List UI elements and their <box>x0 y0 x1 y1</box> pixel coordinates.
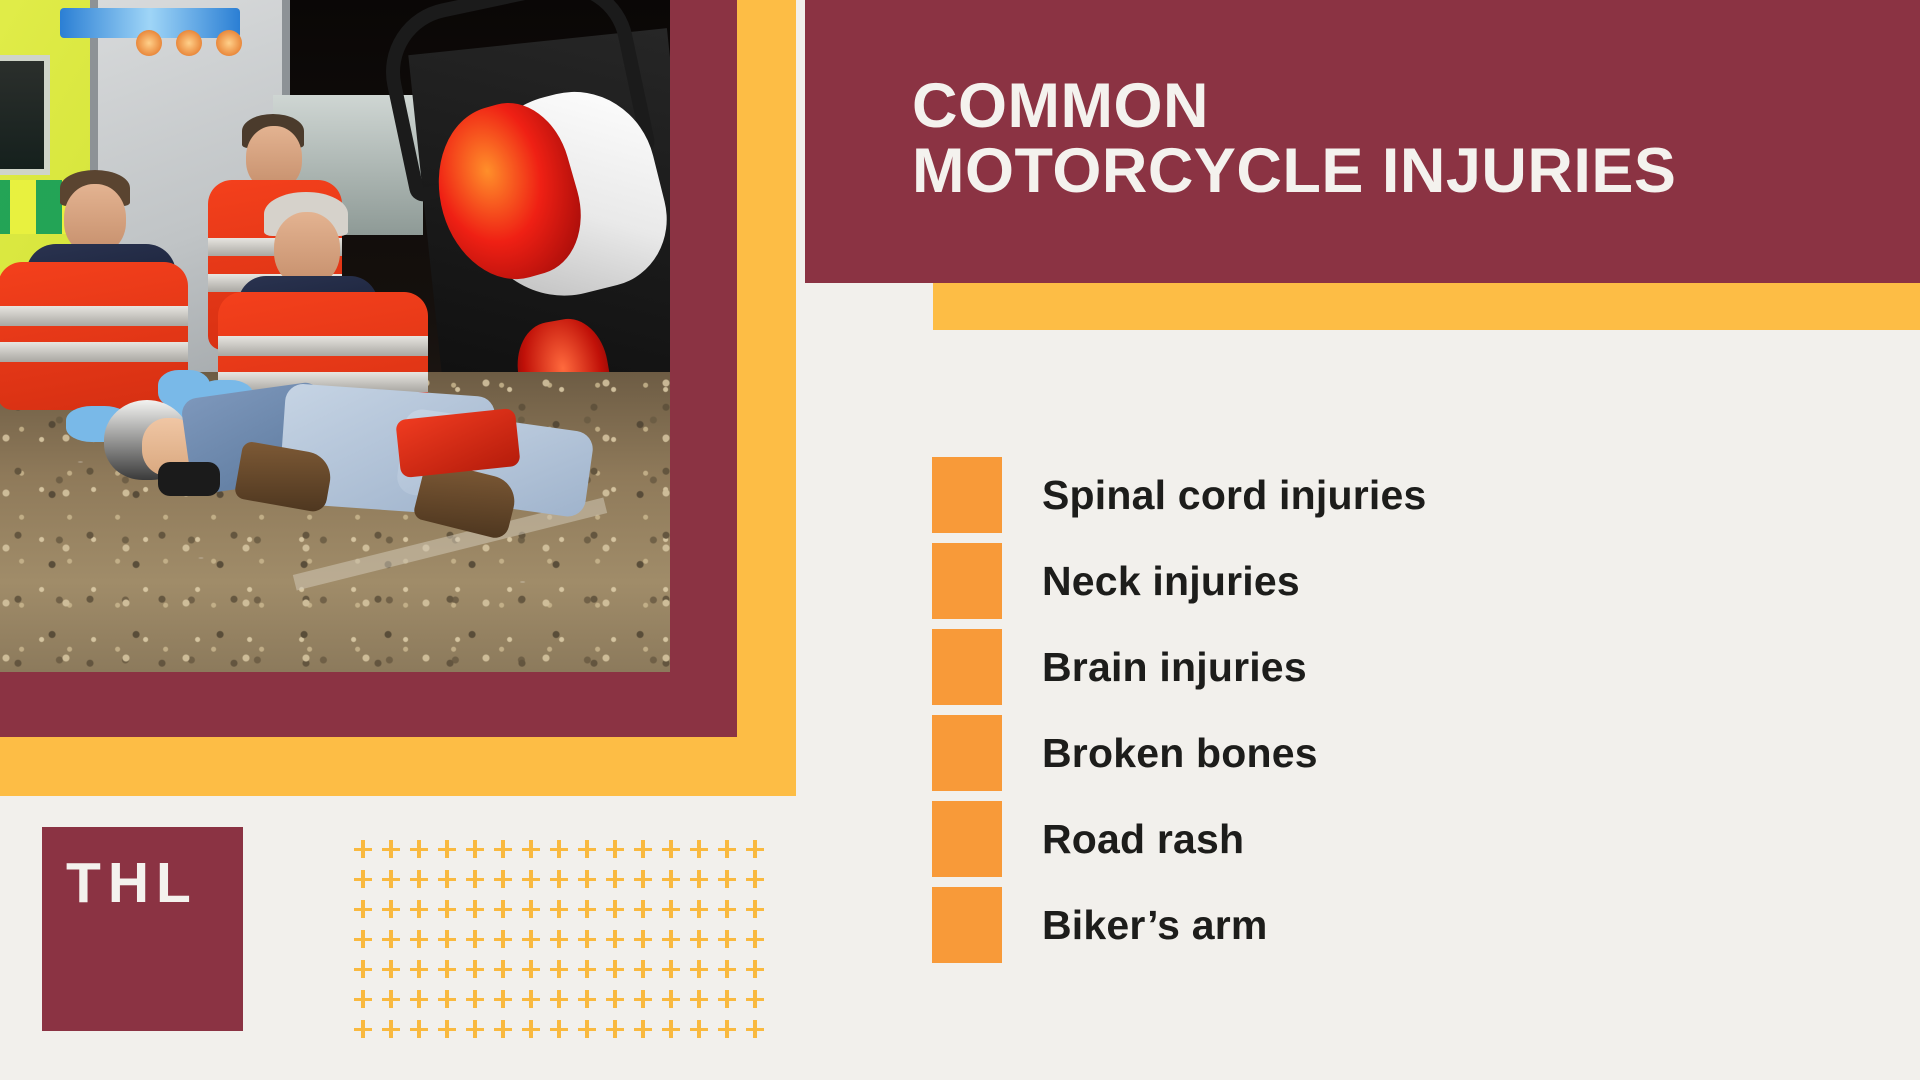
plus-icon <box>604 956 632 986</box>
plus-icon <box>604 986 632 1016</box>
injury-label: Brain injuries <box>1042 644 1307 691</box>
logo-text: THL <box>42 827 243 912</box>
injury-label: Neck injuries <box>1042 558 1300 605</box>
plus-icon <box>744 866 772 896</box>
square-bullet-icon <box>932 801 1002 877</box>
plus-icon <box>688 986 716 1016</box>
plus-icon <box>632 926 660 956</box>
accident-scene-photo <box>0 0 670 672</box>
plus-icon <box>520 926 548 956</box>
plus-icon <box>688 956 716 986</box>
plus-icon <box>548 986 576 1016</box>
plus-pattern-decoration <box>352 836 772 1041</box>
plus-icon <box>716 956 744 986</box>
plus-icon <box>660 1016 688 1046</box>
plus-icon <box>660 986 688 1016</box>
plus-icon <box>576 986 604 1016</box>
plus-icon <box>688 926 716 956</box>
plus-icon <box>716 1016 744 1046</box>
plus-icon <box>520 1016 548 1046</box>
list-item: Road rash <box>932 796 1832 882</box>
plus-icon <box>408 956 436 986</box>
plus-icon <box>436 956 464 986</box>
plus-icon <box>352 866 380 896</box>
plus-icon <box>352 1016 380 1046</box>
plus-icon <box>688 1016 716 1046</box>
square-bullet-icon <box>932 715 1002 791</box>
plus-icon <box>408 896 436 926</box>
photo-medic-head <box>274 212 340 286</box>
list-item: Broken bones <box>932 710 1832 796</box>
plus-icon <box>548 926 576 956</box>
injury-label: Biker’s arm <box>1042 902 1268 949</box>
plus-icon <box>464 926 492 956</box>
plus-icon <box>576 926 604 956</box>
plus-icon <box>744 986 772 1016</box>
square-bullet-icon <box>932 629 1002 705</box>
plus-icon <box>576 866 604 896</box>
plus-icon <box>632 866 660 896</box>
injury-label: Spinal cord injuries <box>1042 472 1426 519</box>
plus-icon <box>716 926 744 956</box>
plus-icon <box>408 836 436 866</box>
plus-icon <box>464 986 492 1016</box>
plus-icon <box>352 956 380 986</box>
plus-icon <box>660 896 688 926</box>
photo-ambulance-window <box>0 55 50 175</box>
photo-frame <box>0 0 796 796</box>
photo-ambulance-lamp <box>176 30 202 56</box>
plus-icon <box>352 986 380 1016</box>
plus-icon <box>660 926 688 956</box>
photo-medic-reflective-band <box>0 342 188 362</box>
list-item: Spinal cord injuries <box>932 452 1832 538</box>
plus-icon <box>632 986 660 1016</box>
injury-label: Broken bones <box>1042 730 1318 777</box>
plus-icon <box>352 896 380 926</box>
plus-icon <box>688 866 716 896</box>
plus-icon <box>688 896 716 926</box>
injury-list: Spinal cord injuries Neck injuries Brain… <box>932 452 1832 968</box>
plus-icon <box>520 866 548 896</box>
plus-icon <box>408 926 436 956</box>
plus-icon <box>716 896 744 926</box>
plus-icon <box>548 1016 576 1046</box>
plus-icon <box>408 1016 436 1046</box>
plus-icon <box>548 836 576 866</box>
square-bullet-icon <box>932 543 1002 619</box>
plus-icon <box>436 926 464 956</box>
square-bullet-icon <box>932 887 1002 963</box>
plus-icon <box>548 896 576 926</box>
list-item: Brain injuries <box>932 624 1832 710</box>
plus-icon <box>744 956 772 986</box>
plus-icon <box>436 1016 464 1046</box>
plus-icon <box>744 926 772 956</box>
plus-icon <box>436 896 464 926</box>
plus-icon <box>464 896 492 926</box>
plus-icon <box>436 836 464 866</box>
photo-victim-glove <box>158 462 220 496</box>
plus-icon <box>436 866 464 896</box>
plus-icon <box>716 866 744 896</box>
plus-icon <box>380 896 408 926</box>
plus-icon <box>380 956 408 986</box>
plus-icon <box>604 866 632 896</box>
plus-icon <box>716 836 744 866</box>
plus-icon <box>744 896 772 926</box>
plus-icon <box>548 866 576 896</box>
plus-icon <box>408 866 436 896</box>
plus-icon <box>492 866 520 896</box>
plus-icon <box>492 986 520 1016</box>
plus-icon <box>660 836 688 866</box>
photo-ambulance-lamp <box>216 30 242 56</box>
plus-icon <box>744 1016 772 1046</box>
plus-icon <box>604 896 632 926</box>
plus-icon <box>380 836 408 866</box>
plus-icon <box>464 836 492 866</box>
plus-icon <box>660 866 688 896</box>
plus-icon <box>632 956 660 986</box>
plus-icon <box>492 896 520 926</box>
plus-icon <box>576 896 604 926</box>
title-banner: COMMON MOTORCYCLE INJURIES <box>805 0 1920 283</box>
plus-icon <box>548 956 576 986</box>
plus-icon <box>492 926 520 956</box>
plus-icon <box>632 836 660 866</box>
page-title: COMMON MOTORCYCLE INJURIES <box>805 74 1676 209</box>
plus-icon <box>352 836 380 866</box>
plus-icon <box>380 926 408 956</box>
plus-icon <box>604 1016 632 1046</box>
plus-icon <box>632 1016 660 1046</box>
plus-icon <box>604 836 632 866</box>
plus-icon <box>464 956 492 986</box>
plus-icon <box>632 896 660 926</box>
plus-icon <box>576 1016 604 1046</box>
square-bullet-icon <box>932 457 1002 533</box>
plus-icon <box>380 866 408 896</box>
photo-medic-reflective-band <box>218 336 428 356</box>
plus-icon <box>464 1016 492 1046</box>
list-item: Neck injuries <box>932 538 1832 624</box>
plus-icon <box>604 926 632 956</box>
plus-icon <box>408 986 436 1016</box>
plus-icon <box>380 1016 408 1046</box>
plus-icon <box>520 986 548 1016</box>
plus-icon <box>492 956 520 986</box>
plus-icon <box>744 836 772 866</box>
plus-icon <box>576 956 604 986</box>
plus-icon <box>352 926 380 956</box>
plus-icon <box>660 956 688 986</box>
plus-icon <box>464 866 492 896</box>
plus-icon <box>436 986 464 1016</box>
plus-icon <box>688 836 716 866</box>
plus-icon <box>492 1016 520 1046</box>
plus-icon <box>520 836 548 866</box>
plus-icon <box>380 986 408 1016</box>
photo-ambulance-lamp <box>136 30 162 56</box>
injury-label: Road rash <box>1042 816 1244 863</box>
photo-medic-reflective-band <box>0 306 188 326</box>
plus-icon <box>716 986 744 1016</box>
thl-logo: THL <box>42 827 243 1031</box>
list-item: Biker’s arm <box>932 882 1832 968</box>
title-underline-bar <box>933 283 1920 330</box>
plus-icon <box>520 896 548 926</box>
plus-icon <box>520 956 548 986</box>
plus-icon <box>576 836 604 866</box>
plus-icon <box>492 836 520 866</box>
